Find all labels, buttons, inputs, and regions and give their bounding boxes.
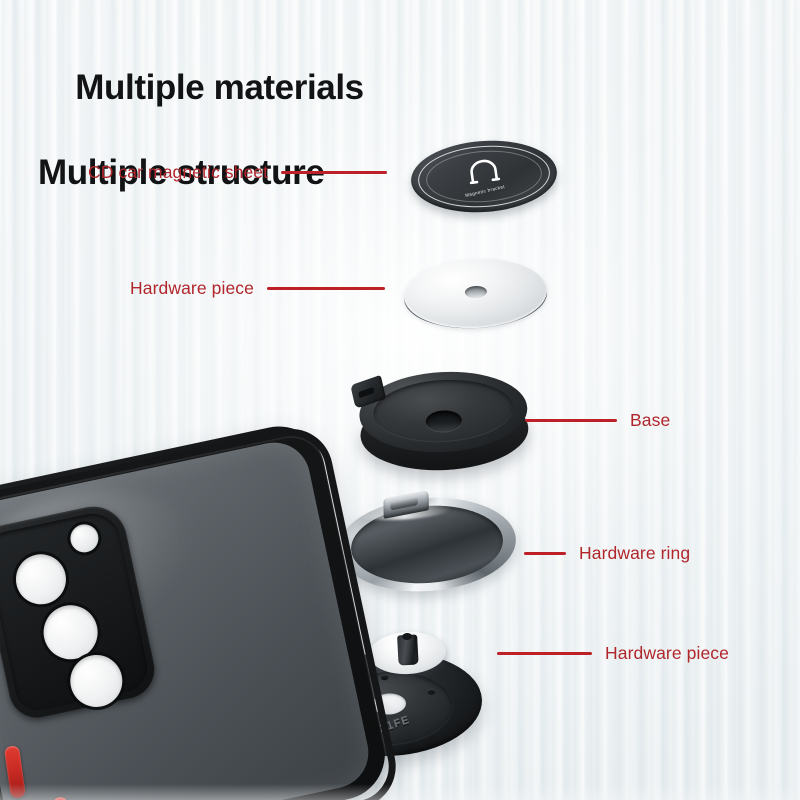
page-title-line1: Multiple materials bbox=[75, 68, 363, 107]
callout-label-hardware-piece-bottom: Hardware piece bbox=[605, 645, 729, 663]
leader-line-cd-car-magnetic-sheet bbox=[281, 171, 387, 174]
leader-line-hardware-ring bbox=[524, 552, 566, 555]
page-title: Multiple materials Multiple structure bbox=[38, 24, 364, 280]
part-hardware-piece-silver-disc bbox=[402, 255, 548, 331]
leader-line-hardware-piece-bottom bbox=[497, 652, 592, 655]
callout-label-hardware-ring: Hardware ring bbox=[579, 545, 690, 563]
leader-line-base bbox=[525, 419, 617, 422]
callout-hardware-piece-top: Hardware piece bbox=[130, 280, 385, 298]
callout-label-hardware-piece-top: Hardware piece bbox=[130, 280, 254, 298]
callout-cd-car-magnetic-sheet: CD car magnetic sheet bbox=[88, 164, 387, 182]
callout-hardware-piece-bottom: Hardware piece bbox=[497, 645, 729, 663]
magnet-logo-icon bbox=[462, 156, 505, 187]
part-base bbox=[357, 368, 530, 482]
product-infographic: Multiple materials Multiple structure Ma… bbox=[0, 0, 800, 800]
leader-line-hardware-piece-top bbox=[267, 287, 385, 290]
callout-base: Base bbox=[525, 412, 670, 430]
cap-post bbox=[397, 634, 419, 665]
part-cd-car-magnetic-sheet: Magnetic bracket bbox=[409, 136, 560, 217]
callout-hardware-ring: Hardware ring bbox=[524, 545, 690, 563]
callout-label-base: Base bbox=[630, 412, 670, 430]
callout-label-cd-car-magnetic-sheet: CD car magnetic sheet bbox=[88, 164, 268, 182]
